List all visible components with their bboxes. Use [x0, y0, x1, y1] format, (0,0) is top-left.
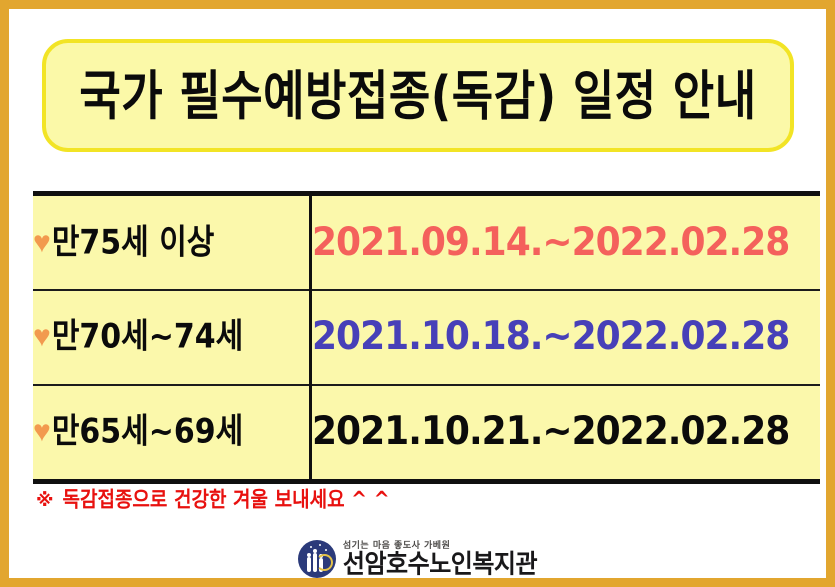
swirl-icon	[316, 554, 333, 571]
age-group-label: 만70세~74세	[52, 320, 243, 354]
logo-name: 선암호수노인복지관	[343, 551, 537, 576]
date-range-cell: 2021.10.21.~2022.02.28	[311, 385, 821, 479]
logo-wordmark: 섬기는 마음 좋도사 가베원 선암호수노인복지관	[343, 542, 537, 576]
heart-icon: ♥	[33, 322, 51, 352]
reference-mark-icon: ※	[36, 491, 54, 509]
title-banner: 국가 필수예방접종(독감) 일정 안내	[42, 39, 794, 152]
star-icon	[319, 544, 321, 546]
date-range-label: 2021.10.21.~2022.02.28	[312, 413, 789, 453]
table-row: ♥ 만75세 이상 2021.09.14.~2022.02.28	[33, 196, 820, 290]
footer-note-text: 독감접종으로 건강한 겨울 보내세요 ^ ^	[63, 490, 390, 511]
heart-icon: ♥	[33, 417, 51, 447]
schedule-table-container: ♥ 만75세 이상 2021.09.14.~2022.02.28 ♥ 만70세~…	[33, 191, 820, 484]
organization-logo: 섬기는 마음 좋도사 가베원 선암호수노인복지관	[9, 540, 826, 578]
star-icon	[325, 549, 327, 551]
age-group-cell: ♥ 만75세 이상	[33, 196, 311, 290]
table-row: ♥ 만65세~69세 2021.10.21.~2022.02.28	[33, 385, 820, 479]
poster-frame: 국가 필수예방접종(독감) 일정 안내 ♥ 만75세 이상 2021.09.14…	[0, 0, 835, 587]
date-range-cell: 2021.09.14.~2022.02.28	[311, 196, 821, 290]
age-group-cell: ♥ 만65세~69세	[33, 385, 311, 479]
footer-note: ※ 독감접종으로 건강한 겨울 보내세요 ^ ^	[36, 491, 390, 510]
page-title: 국가 필수예방접종(독감) 일정 안내	[79, 69, 756, 122]
star-icon	[310, 546, 312, 548]
person-body-icon	[307, 557, 311, 572]
schedule-table: ♥ 만75세 이상 2021.09.14.~2022.02.28 ♥ 만70세~…	[33, 196, 820, 479]
date-range-cell: 2021.10.18.~2022.02.28	[311, 290, 821, 384]
age-group-cell: ♥ 만70세~74세	[33, 290, 311, 384]
logo-emblem-icon	[298, 540, 336, 578]
age-group-label: 만65세~69세	[52, 415, 243, 449]
heart-icon: ♥	[33, 228, 51, 258]
age-group-label: 만75세 이상	[52, 226, 215, 260]
date-range-label: 2021.10.18.~2022.02.28	[312, 318, 789, 358]
date-range-label: 2021.09.14.~2022.02.28	[312, 223, 789, 263]
table-row: ♥ 만70세~74세 2021.10.18.~2022.02.28	[33, 290, 820, 384]
